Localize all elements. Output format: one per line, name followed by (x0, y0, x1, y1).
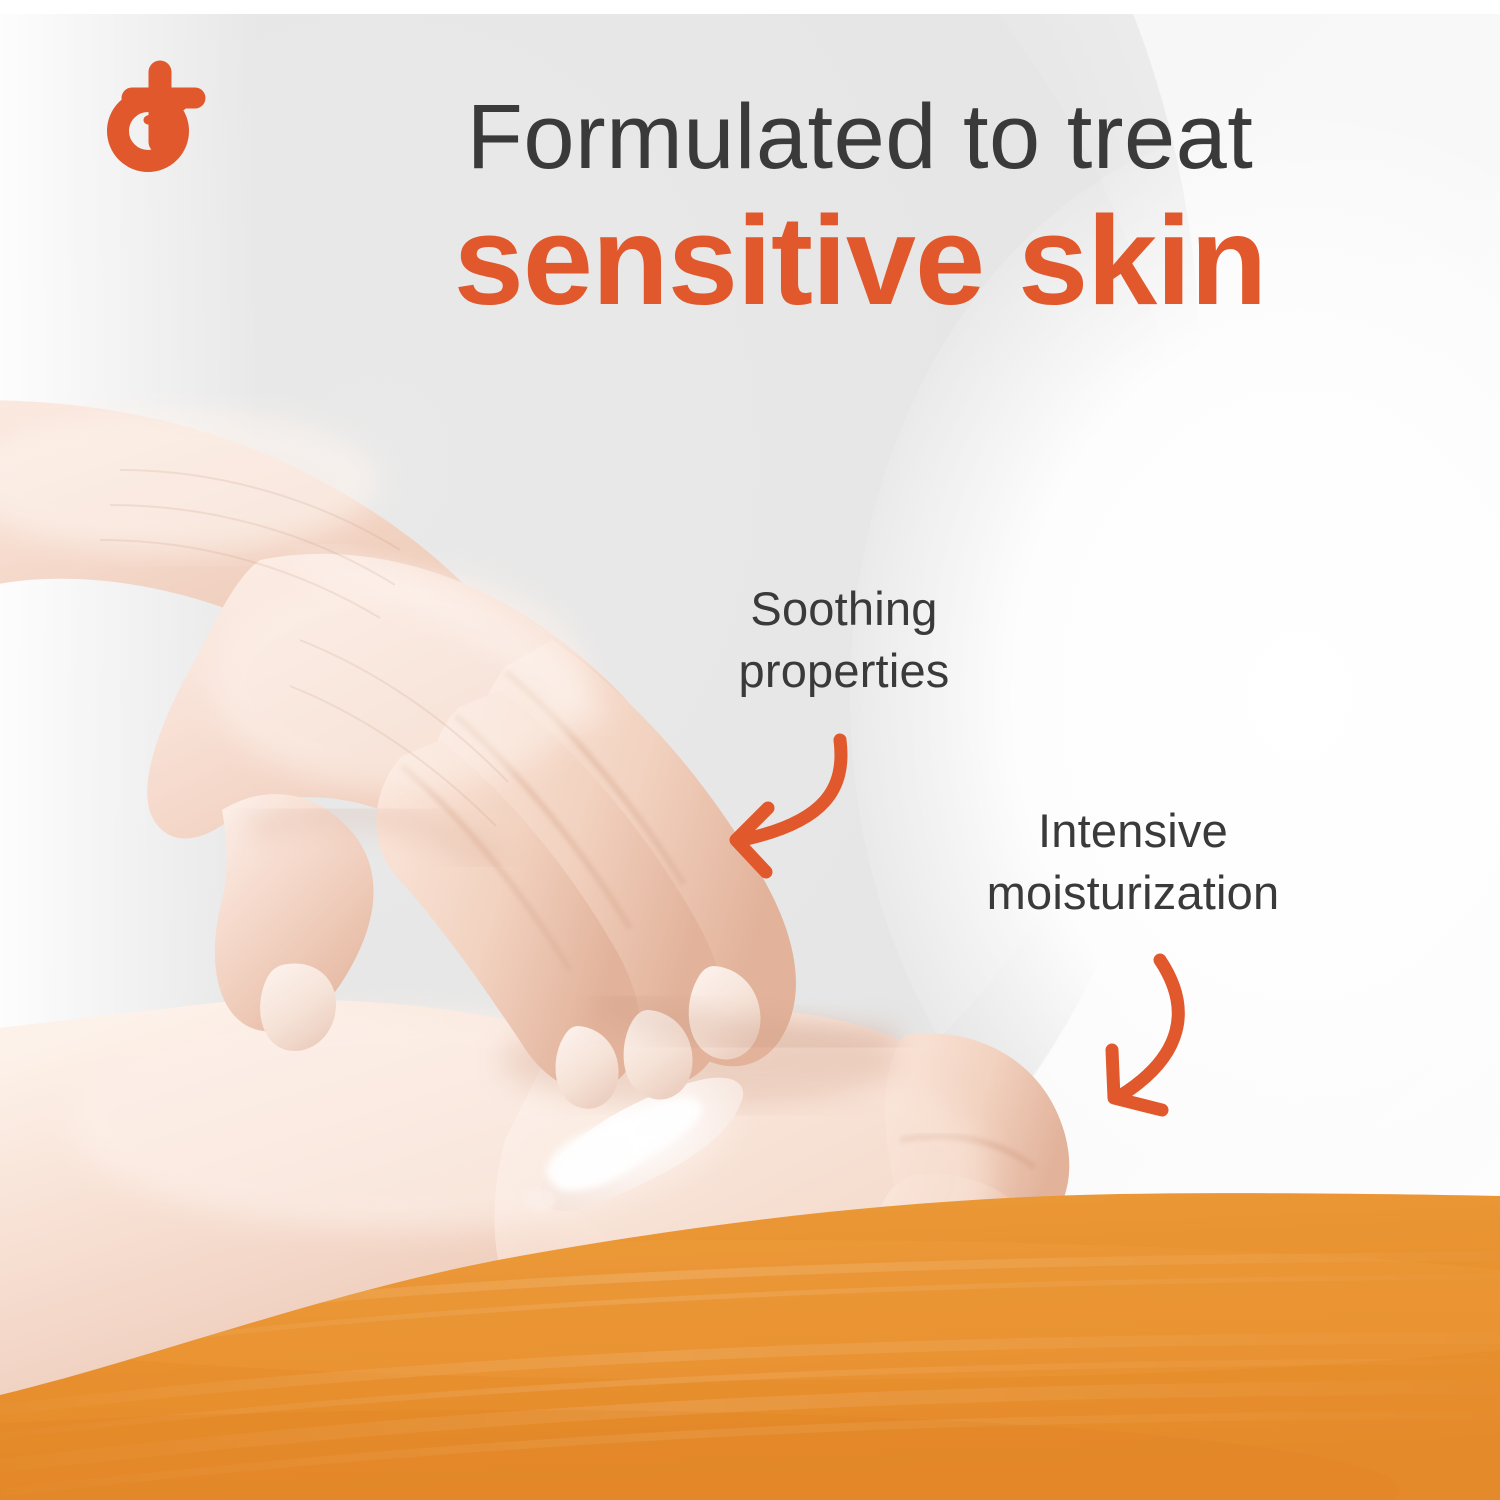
headline-block: Formulated to treat sensitive skin (300, 86, 1420, 329)
callout-moist-line-1: Intensive (898, 800, 1368, 862)
callout-intensive-moisturization: Intensive moisturization (898, 800, 1368, 924)
orange-wave-band (0, 1160, 1500, 1500)
callout-soothing-line-1: Soothing (664, 578, 1024, 640)
curved-arrow-down-left-icon (1112, 960, 1178, 1110)
brand-logo[interactable] (96, 58, 230, 192)
callout-moist-line-2: moisturization (898, 862, 1368, 924)
callout-soothing-properties: Soothing properties (664, 578, 1024, 702)
callout-soothing-arrow (700, 700, 900, 900)
callout-soothing-line-2: properties (664, 640, 1024, 702)
curved-arrow-down-left-icon (736, 740, 841, 872)
headline-line-1: Formulated to treat (300, 86, 1420, 189)
headline-line-2: sensitive skin (300, 193, 1420, 329)
promo-banner: Formulated to treat sensitive skin Sooth… (0, 0, 1500, 1500)
callout-moisturization-arrow (1080, 930, 1280, 1140)
